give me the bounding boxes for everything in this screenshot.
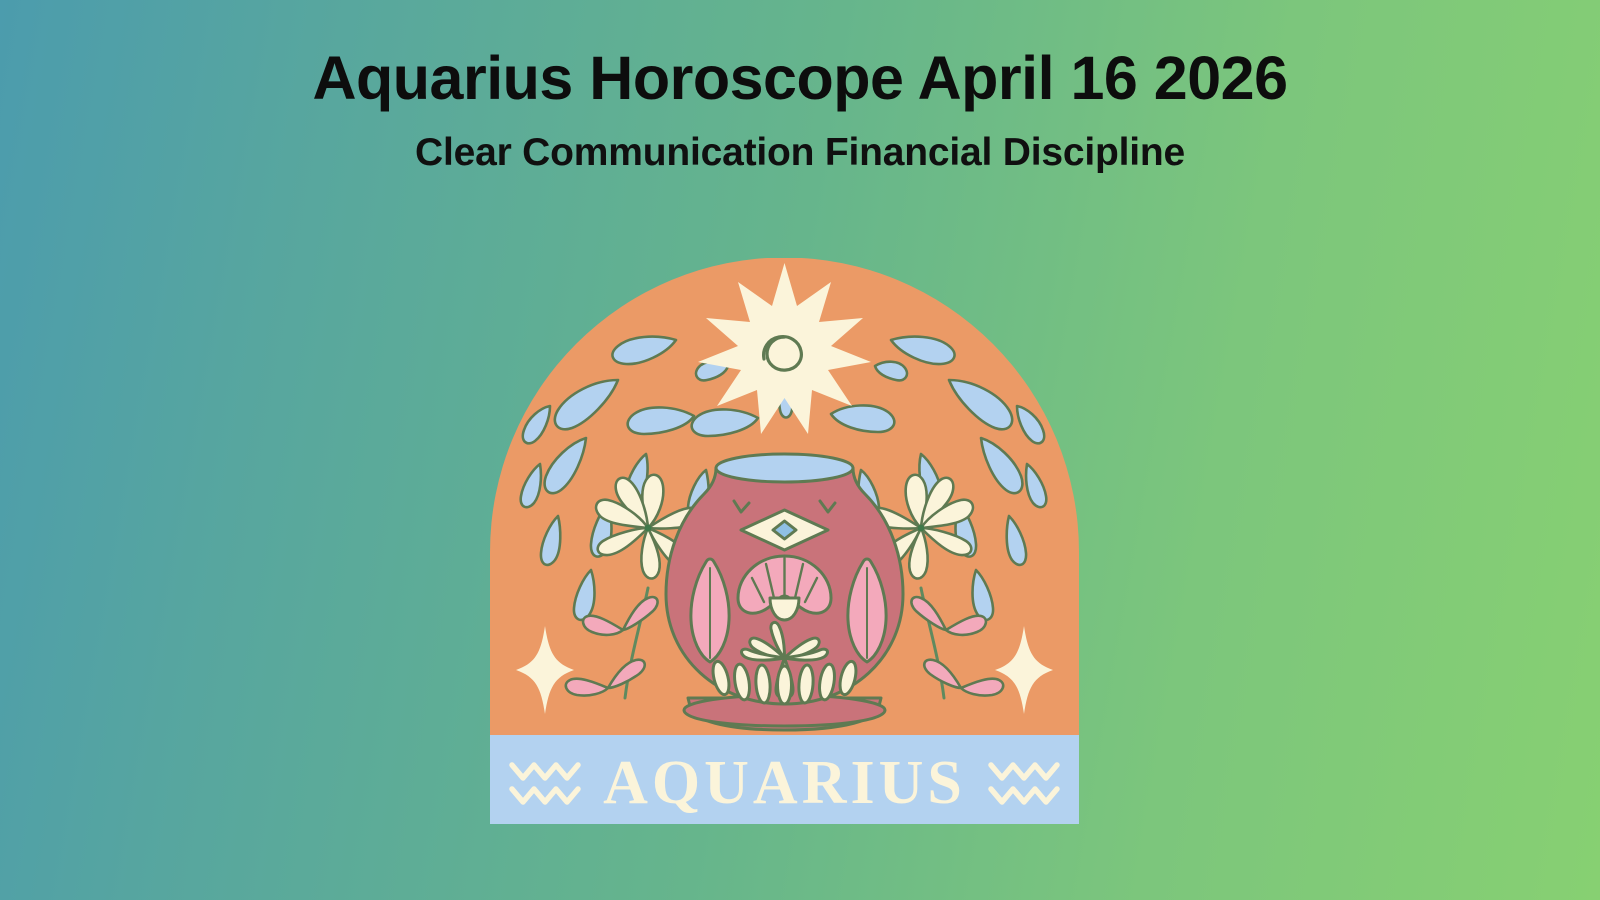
poster-canvas: Aquarius Horoscope April 16 2026 Clear C…	[0, 0, 1600, 900]
page-title: Aquarius Horoscope April 16 2026	[0, 46, 1600, 112]
aquarius-zodiac-card: AQUARIUS	[490, 258, 1079, 824]
aquarius-banner: AQUARIUS	[490, 735, 1079, 824]
banner-label: AQUARIUS	[603, 749, 966, 817]
page-subtitle: Clear Communication Financial Discipline	[0, 132, 1600, 175]
title-block: Aquarius Horoscope April 16 2026 Clear C…	[0, 46, 1600, 175]
zodiac-illustration: AQUARIUS	[490, 258, 1079, 824]
